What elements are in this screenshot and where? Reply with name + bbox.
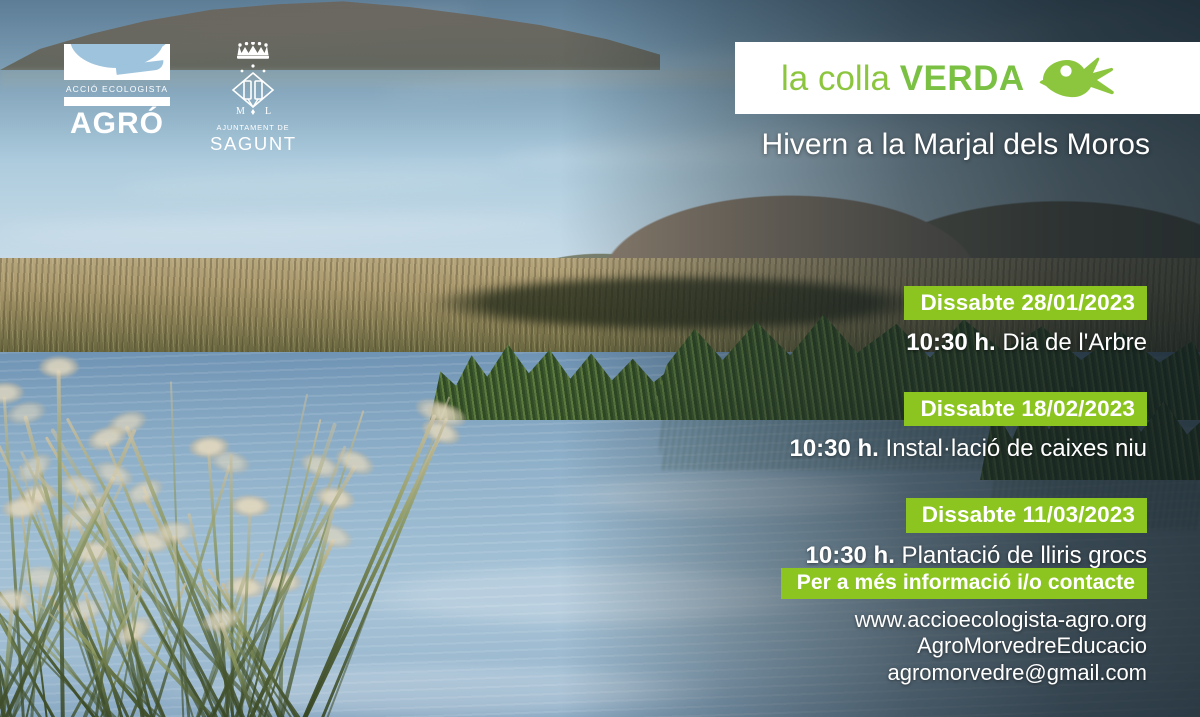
event-title: Plantació de lliris grocs	[895, 542, 1147, 569]
contact-website[interactable]: www.accioecologista-agro.org	[547, 607, 1147, 634]
logo-group: ACCIÓ ECOLOGISTA AGRÓ	[0, 0, 360, 160]
event-time: 10:30 h.	[789, 435, 878, 462]
agro-wordmark: AGRÓ	[64, 109, 170, 139]
foreground-reeds	[0, 317, 360, 717]
sagunt-wordmark: SAGUNT	[210, 133, 296, 155]
sagunt-shield-icon: M L	[225, 62, 281, 120]
event-title: Instal·lació de caixes niu	[879, 435, 1147, 462]
contact-lines: www.accioecologista-agro.org AgroMorvedr…	[547, 607, 1147, 687]
reed-blade	[275, 501, 337, 717]
poster-canvas: ACCIÓ ECOLOGISTA AGRÓ	[0, 0, 1200, 717]
poster-subtitle: Hivern a la Marjal dels Moros	[762, 128, 1150, 162]
colla-bold-word: VERDA	[900, 59, 1025, 98]
contact-block: Per a més informació i/o contacte www.ac…	[547, 568, 1147, 687]
reed-plume	[230, 495, 271, 518]
event-description: 10:30 h. Instal·lació de caixes niu	[547, 435, 1147, 463]
colla-verda-wordmark: la colla VERDA	[781, 61, 1025, 96]
event-date-badge: Dissabte 28/01/2023	[904, 286, 1147, 320]
contact-heading-badge: Per a més informació i/o contacte	[781, 568, 1147, 599]
event-title: Dia de l'Arbre	[996, 329, 1147, 356]
event-time: 10:30 h.	[906, 329, 995, 356]
event-date-badge: Dissabte 11/03/2023	[906, 498, 1147, 532]
event-time: 10:30 h.	[806, 542, 895, 569]
agro-bird-mark-icon	[64, 44, 170, 80]
sagunt-crown-icon	[210, 42, 296, 60]
svg-text:M: M	[236, 106, 245, 117]
event-item: Dissabte 18/02/2023 10:30 h. Instal·laci…	[547, 392, 1147, 463]
sagunt-logo: M L AJUNTAMENT DE SAGUNT	[210, 42, 296, 155]
event-date-badge: Dissabte 18/02/2023	[904, 392, 1147, 426]
svg-text:L: L	[265, 106, 271, 117]
events-list: Dissabte 28/01/2023 10:30 h. Dia de l'Ar…	[547, 286, 1147, 570]
agro-logo: ACCIÓ ECOLOGISTA AGRÓ	[64, 44, 170, 139]
sagunt-tagline: AJUNTAMENT DE	[210, 123, 296, 132]
contact-email[interactable]: agromorvedre@gmail.com	[547, 660, 1147, 687]
agro-tagline: ACCIÓ ECOLOGISTA	[64, 84, 170, 94]
event-description: 10:30 h. Plantació de lliris grocs	[547, 542, 1147, 570]
event-item: Dissabte 11/03/2023 10:30 h. Plantació d…	[547, 498, 1147, 569]
event-item: Dissabte 28/01/2023 10:30 h. Dia de l'Ar…	[547, 286, 1147, 357]
agro-divider-bar	[64, 97, 170, 106]
contact-social[interactable]: AgroMorvedreEducacio	[547, 633, 1147, 660]
reed-plume	[38, 356, 78, 378]
colla-light-word: la colla	[781, 59, 890, 98]
colla-verda-header: la colla VERDA	[735, 42, 1200, 114]
event-description: 10:30 h. Dia de l'Arbre	[547, 329, 1147, 357]
bird-icon	[1039, 50, 1117, 106]
